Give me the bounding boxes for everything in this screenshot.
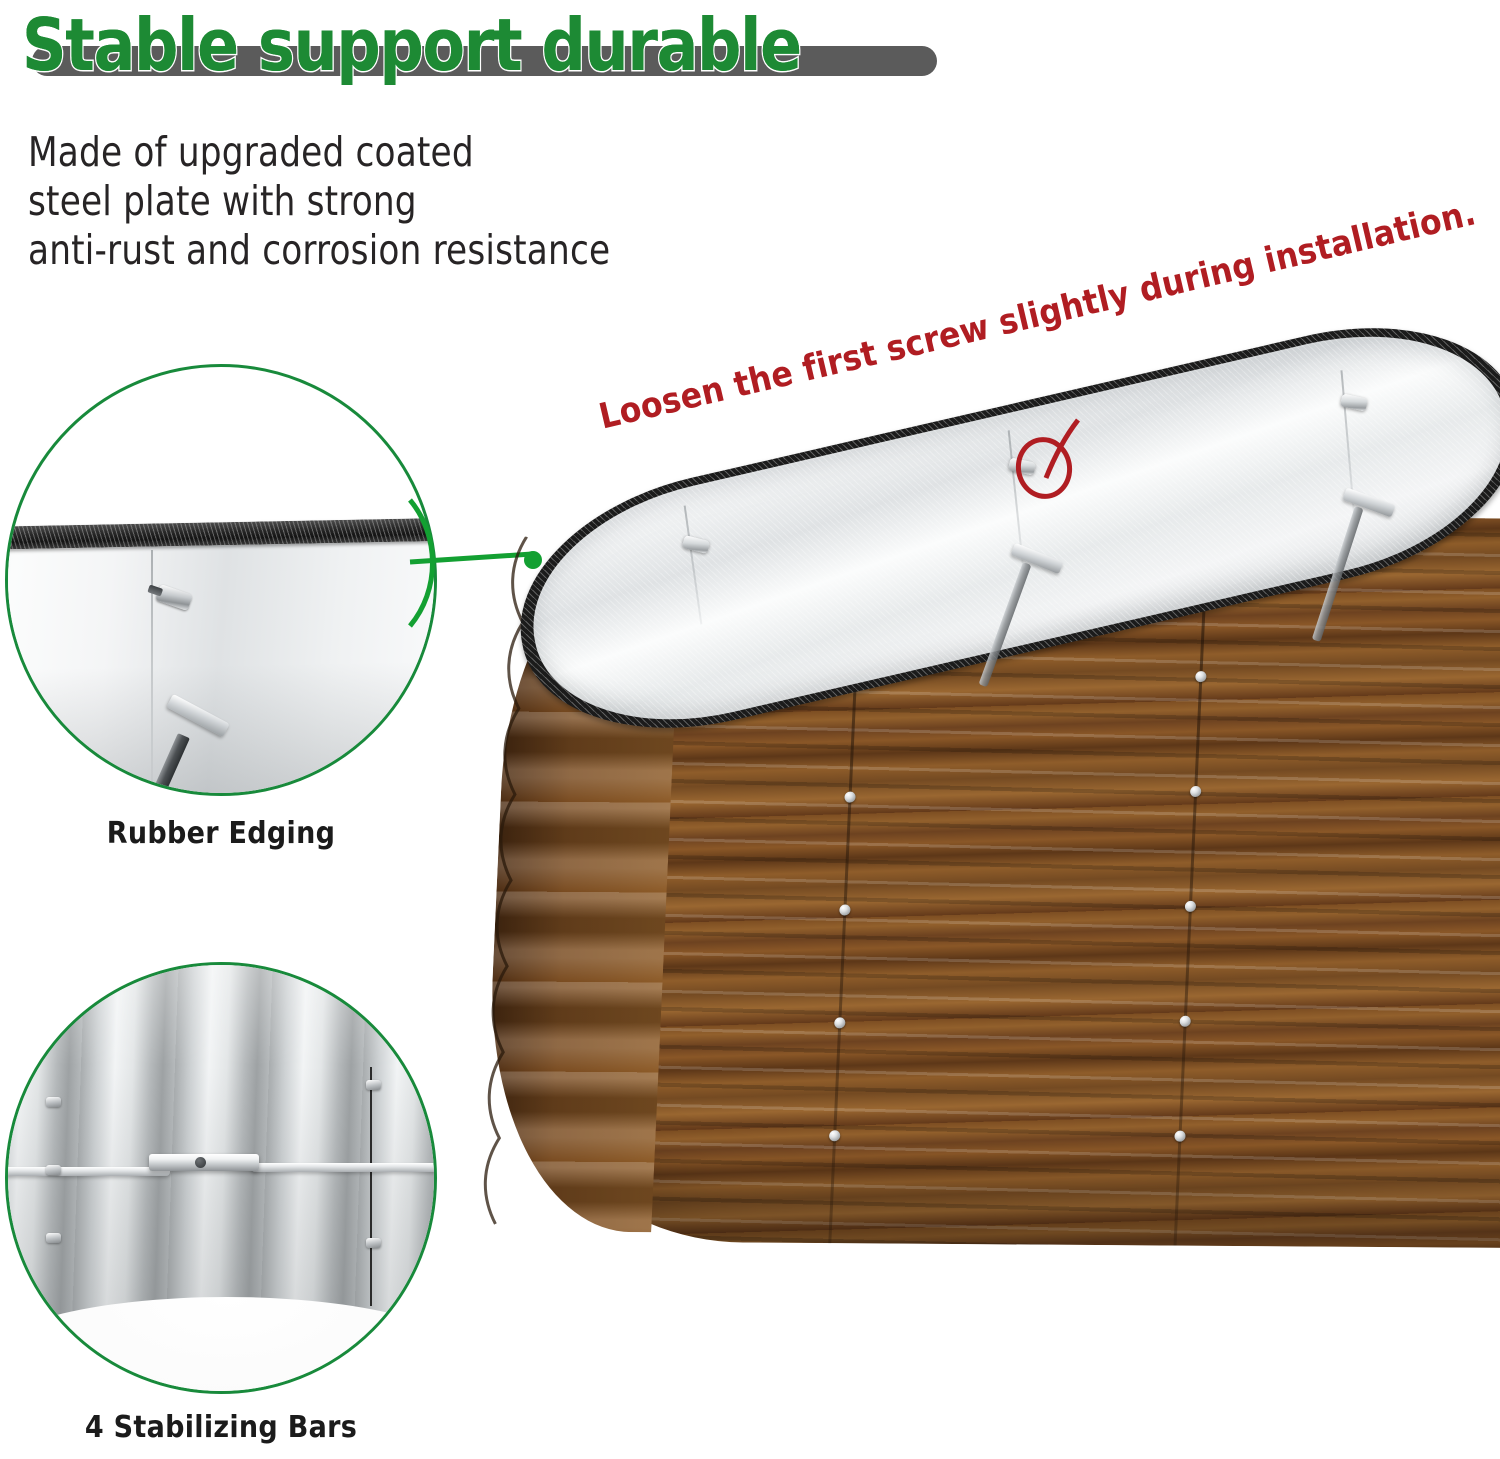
screw-icon [46, 1233, 61, 1243]
callout-rubber-edging: Rubber Edging [5, 364, 437, 796]
screw-icon [46, 1097, 61, 1107]
product-image-raised-garden-bed [455, 300, 1500, 1459]
callout-stabilizing-bars-label: 4 Stabilizing Bars [5, 1410, 437, 1445]
screw-icon [366, 1080, 381, 1090]
stabilizing-bar-right [251, 1163, 437, 1172]
screw-icon [1185, 901, 1197, 912]
callout-stabilizing-bars: 4 Stabilizing Bars [5, 962, 437, 1394]
screw-icon [839, 904, 851, 915]
callout-stabilizing-bars-circle [5, 962, 437, 1394]
callout-rubber-edging-circle [5, 364, 437, 796]
page-title: Stable support durable Stable support du… [22, 2, 982, 94]
screw-icon [366, 1238, 381, 1248]
feature-description-line-3: anti-rust and corrosion resistance [28, 226, 791, 275]
feature-description-line-1: Made of upgraded coated [28, 128, 791, 177]
feature-description: Made of upgraded coated steel plate with… [28, 128, 791, 275]
stabilizing-bar-left [5, 1167, 170, 1176]
screw-icon [1174, 1131, 1186, 1142]
page-title-text: Stable support durable [22, 2, 848, 88]
screw-icon [1179, 1016, 1191, 1027]
panel-floor-shadow [5, 1297, 437, 1394]
screw-icon [834, 1017, 846, 1028]
screw-icon [844, 792, 856, 803]
feature-description-line-2: steel plate with strong [28, 177, 791, 226]
screw-icon [1190, 786, 1202, 797]
screw-icon [1195, 671, 1207, 682]
callout-rubber-edging-label: Rubber Edging [5, 816, 437, 851]
bar-coupler [149, 1154, 260, 1171]
corrugated-panel-highlight [5, 962, 437, 1340]
screw-icon [46, 1165, 61, 1175]
panel-seam [370, 1067, 372, 1306]
screw-icon [829, 1130, 841, 1141]
